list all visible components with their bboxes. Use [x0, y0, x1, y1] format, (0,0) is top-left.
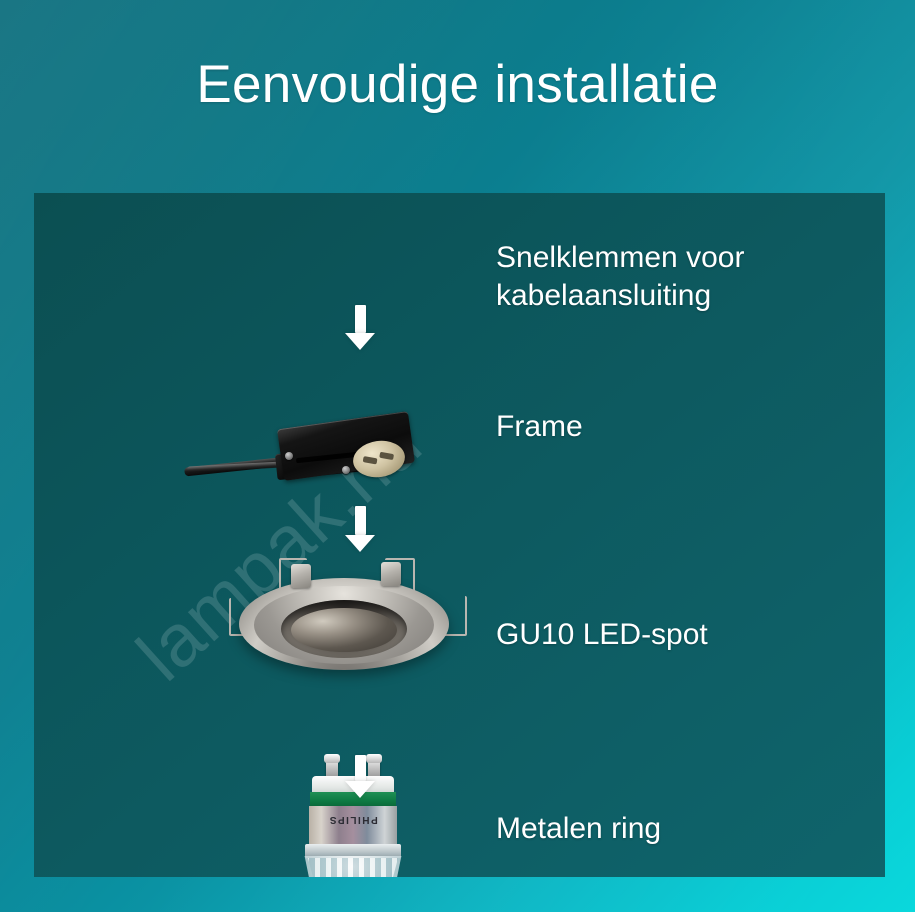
lamp-lens-facets	[304, 858, 402, 877]
step-label-frame: Frame	[496, 408, 583, 446]
step-label-gu10-led-spot: GU10 LED-spot	[496, 616, 708, 654]
lamp-step-ring	[305, 844, 401, 858]
frame-tab-icon	[381, 562, 401, 586]
installation-diagram-panel: lampak.hu Snelklemmen voor kabelaansluit…	[34, 193, 885, 877]
lamp-brand-label: PHILIPS	[309, 814, 397, 825]
step-label-metal-ring: Metalen ring	[496, 810, 661, 848]
frame-reflector-cup	[291, 608, 397, 652]
lamp-body	[309, 806, 397, 846]
page-title: Eenvoudige installatie	[0, 54, 915, 115]
arrow-down-icon-1	[345, 305, 375, 350]
screw-icon	[342, 466, 350, 474]
arrow-down-icon-2	[345, 506, 375, 552]
step-label-quick-connectors: Snelklemmen voor kabelaansluiting	[496, 239, 744, 315]
arrow-down-icon-3	[345, 755, 375, 798]
quick-connector-image	[184, 408, 414, 503]
screw-icon	[285, 452, 293, 460]
frame-tab-icon	[291, 564, 311, 588]
slide-canvas: Eenvoudige installatie lampak.hu Snelkle…	[0, 0, 915, 912]
downlight-frame-image	[229, 556, 469, 676]
